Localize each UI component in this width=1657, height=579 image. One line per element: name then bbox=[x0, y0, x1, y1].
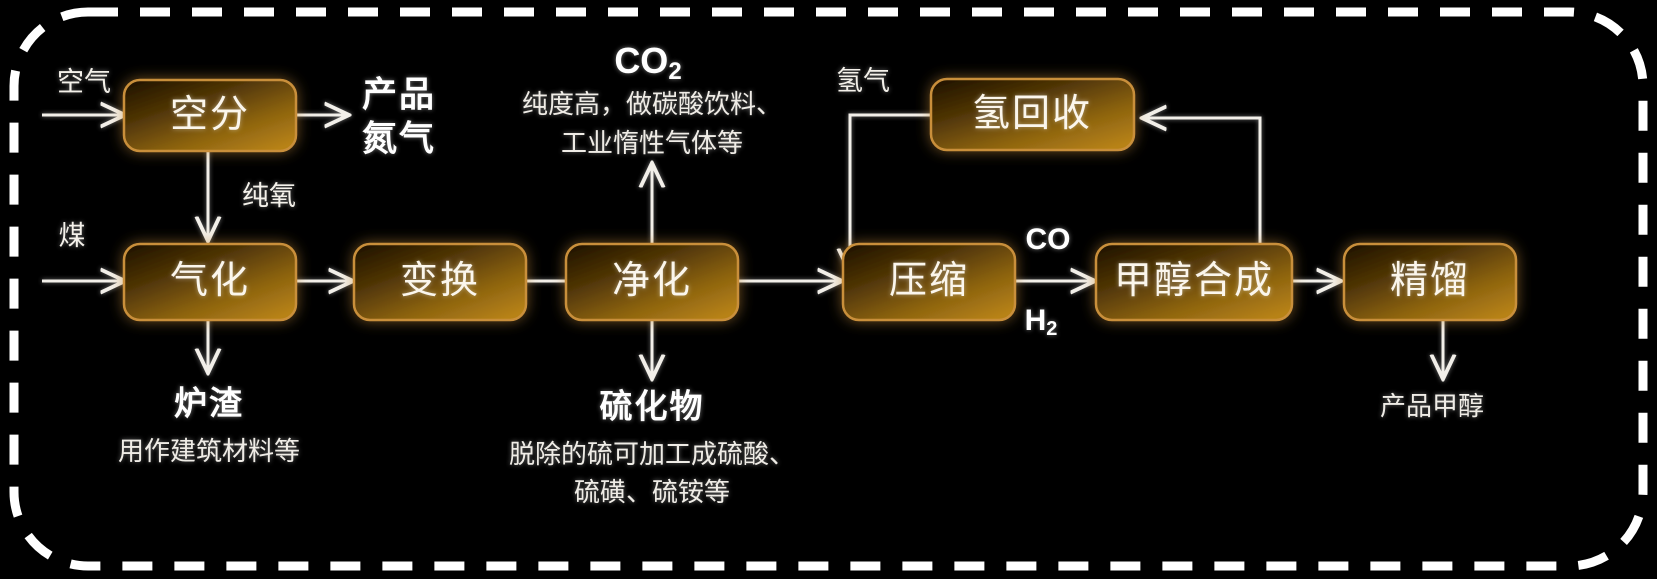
output-sulfide-desc-line1: 脱除的硫可加工成硫酸、 bbox=[509, 439, 795, 469]
node-label-purify: 净化 bbox=[612, 260, 692, 302]
output-sulfide-desc-line2: 硫磺、硫铵等 bbox=[574, 477, 730, 507]
output-slag-desc: 用作建筑材料等 bbox=[118, 436, 300, 466]
stream-label-h2-sub: 2 bbox=[1046, 318, 1057, 340]
output-product-methanol: 产品甲醇 bbox=[1380, 391, 1484, 421]
node-label-shift: 变换 bbox=[400, 260, 480, 302]
stream-label-pure-oxygen: 纯氧 bbox=[242, 181, 296, 211]
stream-label-air: 空气 bbox=[57, 67, 111, 97]
connector-synthesis-to-h2recovery bbox=[1143, 118, 1260, 248]
output-co2-desc-line1: 纯度高，做碳酸饮料、 bbox=[522, 89, 782, 119]
stream-label-h2: H2 bbox=[1025, 304, 1058, 340]
node-label-distill: 精馏 bbox=[1390, 260, 1470, 302]
output-co2-desc-line2: 工业惰性气体等 bbox=[561, 128, 743, 158]
output-product-nitrogen-line1: 产品 bbox=[362, 75, 436, 114]
output-sulfide-title: 硫化物 bbox=[600, 388, 705, 425]
node-label-gasify: 气化 bbox=[170, 260, 250, 302]
node-label-h2recover: 氢回收 bbox=[972, 93, 1092, 135]
process-flow-diagram: 空分 气化 变换 净化 氢回收 压缩 甲醇合成 精馏 空气 煤 纯氧 氢气 CO… bbox=[0, 0, 1657, 579]
stream-label-hydrogen: 氢气 bbox=[836, 66, 890, 96]
output-slag-title: 炉渣 bbox=[174, 385, 244, 422]
stream-label-coal: 煤 bbox=[59, 221, 86, 251]
diagram-canvas: 空分 气化 变换 净化 氢回收 压缩 甲醇合成 精馏 空气 煤 纯氧 氢气 CO… bbox=[0, 0, 1657, 579]
output-product-nitrogen-line2: 氮气 bbox=[362, 119, 436, 158]
node-label-compress: 压缩 bbox=[889, 260, 969, 302]
output-co2-title-sub: 2 bbox=[668, 58, 681, 85]
node-label-asu: 空分 bbox=[170, 94, 250, 136]
stream-label-h2-main: H bbox=[1025, 304, 1047, 337]
output-co2-title: CO2 bbox=[614, 40, 681, 86]
node-label-synthesis: 甲醇合成 bbox=[1114, 260, 1274, 302]
output-co2-title-main: CO bbox=[614, 40, 668, 81]
stream-label-co: CO bbox=[1026, 223, 1071, 256]
